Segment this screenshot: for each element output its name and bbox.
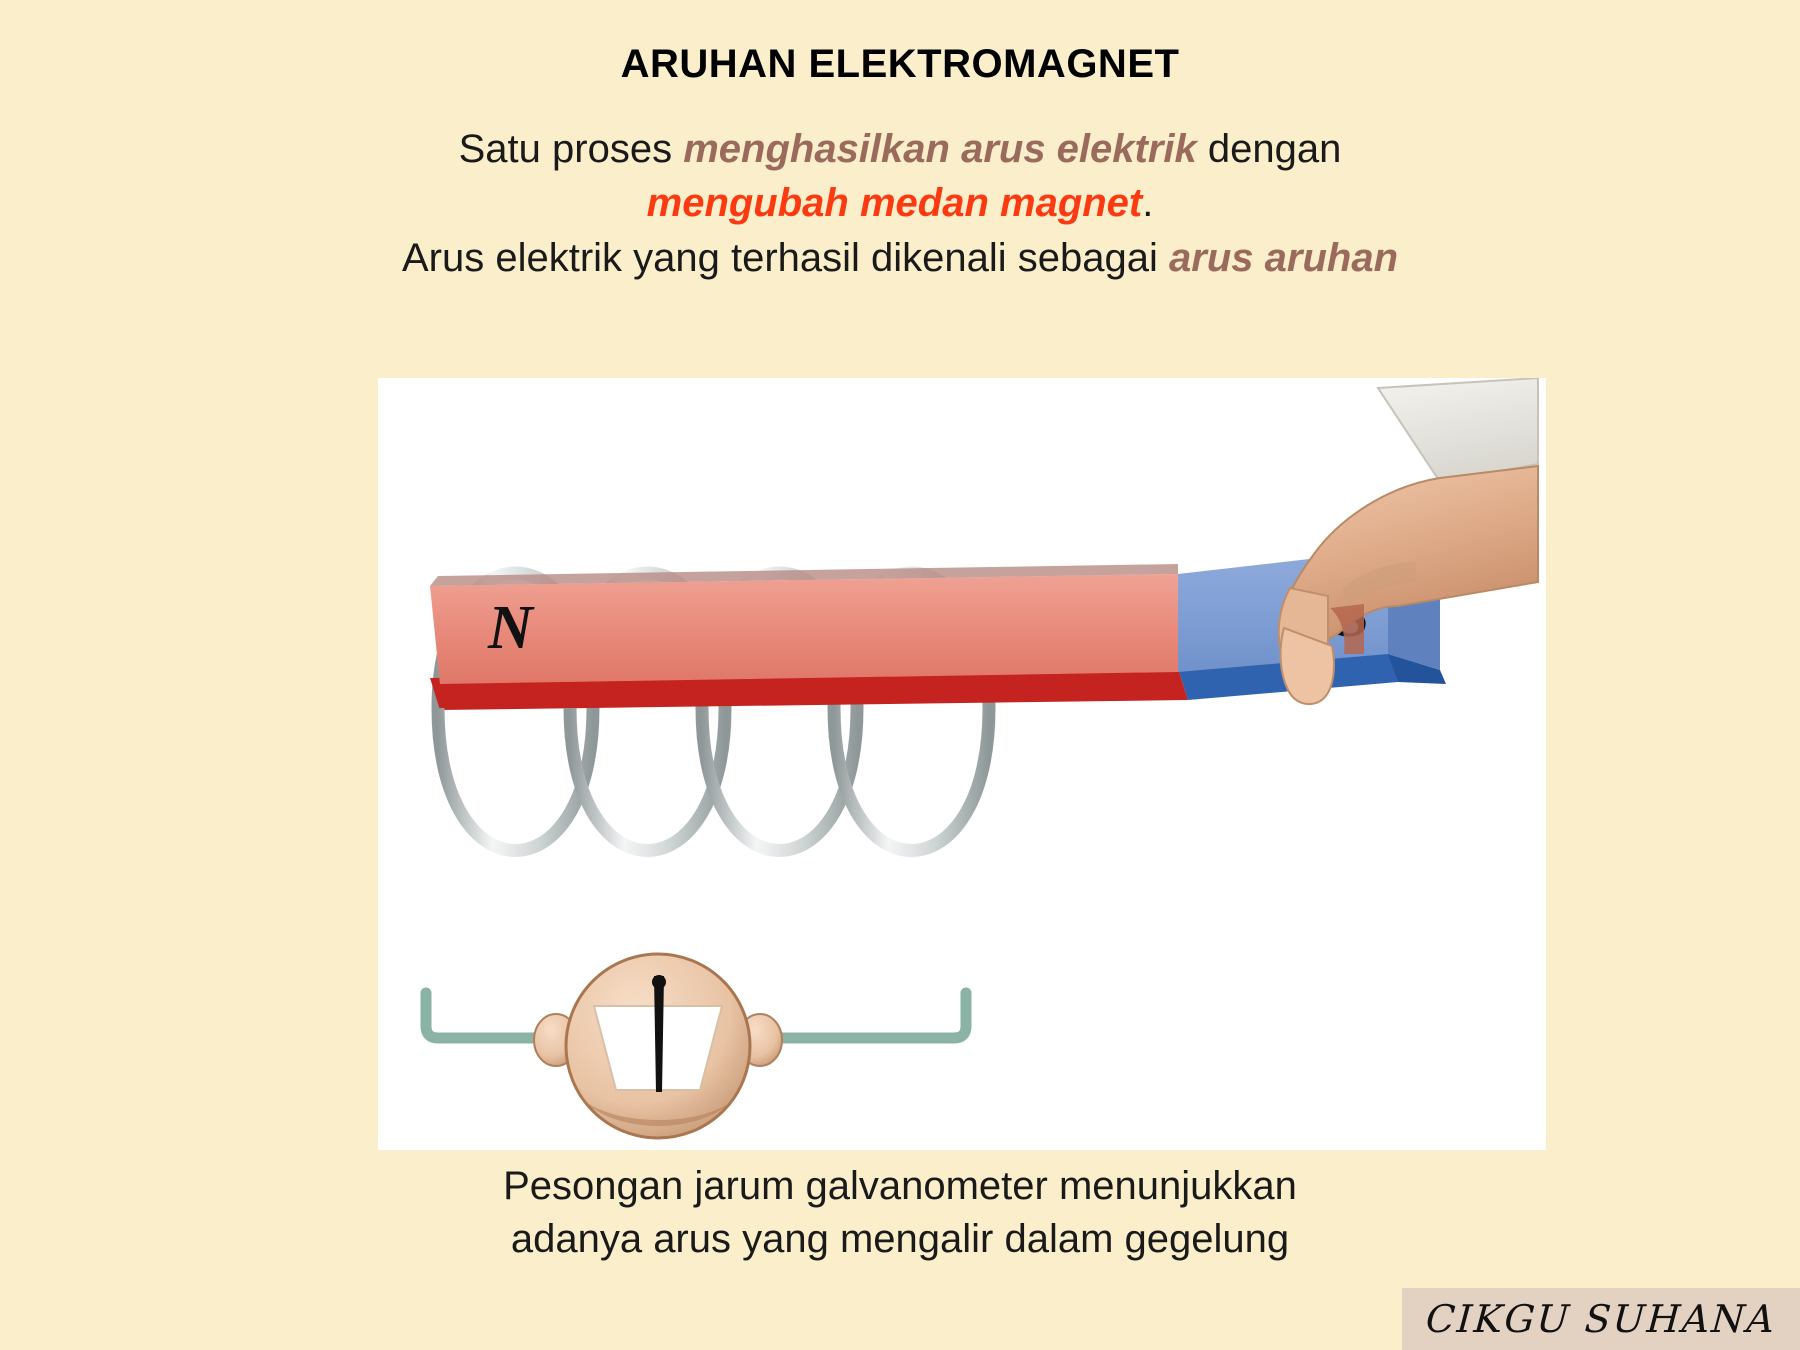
intro-line-3: Arus elektrik yang terhasil dikenali seb… xyxy=(0,231,1800,285)
intro-paragraph: Satu proses menghasilkan arus elektrik d… xyxy=(0,122,1800,285)
coil-front-loops xyxy=(438,708,989,851)
watermark-box: CIKGU SUHANA xyxy=(1402,1288,1800,1350)
magnet-north-label: N xyxy=(487,594,535,662)
caption-line-2: adanya arus yang mengalir dalam gegelung xyxy=(0,1213,1800,1266)
circuit-lead-left xyxy=(426,993,546,1038)
sleeve-cuff xyxy=(1378,378,1538,482)
intro-line-1-plain-b: dengan xyxy=(1197,127,1342,171)
page-title: ARUHAN ELEKTROMAGNET xyxy=(0,42,1800,87)
circuit-lead-right xyxy=(770,993,966,1038)
slide-canvas: ARUHAN ELEKTROMAGNET Satu proses menghas… xyxy=(0,0,1800,1350)
intro-line-3-plain: Arus elektrik yang terhasil dikenali seb… xyxy=(402,236,1169,280)
intro-line-2-period: . xyxy=(1142,181,1153,225)
intro-line-1-plain-a: Satu proses xyxy=(459,127,684,171)
caption-line-1: Pesongan jarum galvanometer menunjukkan xyxy=(0,1160,1800,1213)
intro-line-2-emphasis: mengubah medan magnet xyxy=(647,181,1143,225)
figure-panel: N S xyxy=(378,378,1546,1150)
galvanometer xyxy=(534,954,782,1138)
intro-line-1: Satu proses menghasilkan arus elektrik d… xyxy=(0,122,1800,176)
electromagnetic-induction-diagram: N S xyxy=(378,378,1546,1150)
galvanometer-needle-pivot xyxy=(652,975,666,989)
intro-line-1-emphasis: menghasilkan arus elektrik xyxy=(683,127,1197,171)
watermark-text: CIKGU SUHANA xyxy=(1424,1297,1777,1341)
intro-line-3-emphasis: arus aruhan xyxy=(1169,236,1398,280)
intro-line-2: mengubah medan magnet. xyxy=(0,176,1800,230)
magnet-north-face xyxy=(430,574,1178,684)
figure-caption: Pesongan jarum galvanometer menunjukkan … xyxy=(0,1160,1800,1266)
